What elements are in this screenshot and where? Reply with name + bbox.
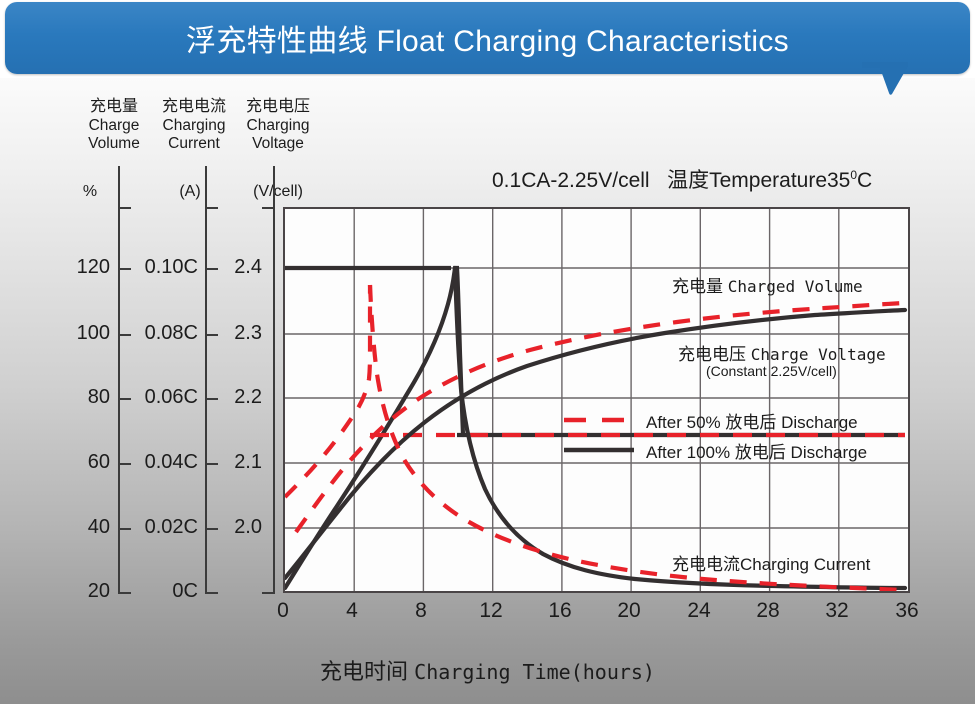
- tick-label-volume-60: 60: [40, 451, 110, 474]
- tick-label-current-004c: 0.04C: [118, 451, 198, 474]
- label-charged-volume: 充电量 Charged Volume: [672, 272, 863, 297]
- chart-legend: After 50% 放电后 Discharge After 100% 放电后 D…: [560, 405, 867, 465]
- axis-unit-volt-per-cell: (V/cell): [230, 183, 326, 201]
- label-charge-voltage: 充电电压 Charge Voltage: [678, 340, 886, 365]
- curve-voltage-100pct: [285, 268, 463, 588]
- legend-swatch-dashed-red: [560, 405, 638, 435]
- label-charge-voltage-note: (Constant 2.25V/cell): [706, 363, 837, 379]
- page-title: 浮充特性曲线 Float Charging Characteristics: [5, 2, 970, 74]
- condition-rate: 0.1CA-2.25V/cell: [492, 169, 650, 192]
- axis-header-charging-voltage: 充电电压 Charging Voltage: [234, 98, 322, 152]
- x-axis-caption: 充电时间 Charging Time(hours): [0, 654, 975, 686]
- tick-label-volume-80: 80: [40, 386, 110, 409]
- xtick-24: 24: [677, 599, 721, 623]
- tick-label-volume-100: 100: [40, 322, 110, 345]
- tick-label-volume-40: 40: [40, 516, 110, 539]
- xtick-20: 20: [607, 599, 651, 623]
- condition-annotation: 0.1CA-2.25V/cell 温度Temperature350C: [492, 164, 872, 194]
- axis-tick: [262, 592, 273, 594]
- tick-label-current-006c: 0.06C: [118, 386, 198, 409]
- tick-label-voltage-22: 2.2: [198, 386, 262, 409]
- tick-label-voltage-23: 2.3: [198, 322, 262, 345]
- title-banner: 浮充特性曲线 Float Charging Characteristics: [5, 2, 970, 74]
- tick-label-current-010c: 0.10C: [118, 256, 198, 279]
- curve-voltage-50pct-rise: [285, 285, 370, 497]
- xtick-4: 4: [330, 599, 374, 623]
- xtick-36: 36: [885, 599, 929, 623]
- tick-label-current-0c: 0C: [118, 580, 198, 603]
- tick-label-volume-20: 20: [40, 580, 110, 603]
- axis-header-charge-volume: 充电量 Charge Volume: [72, 98, 156, 152]
- chart-plot-area: [283, 207, 910, 593]
- condition-temp-cn: 温度: [667, 169, 709, 192]
- axis-tick: [207, 207, 218, 209]
- legend-label-50pct: After 50% 放电后 Discharge: [638, 408, 858, 433]
- axis-tick: [207, 592, 218, 594]
- xtick-12: 12: [469, 599, 513, 623]
- xtick-32: 32: [815, 599, 859, 623]
- label-charging-current: 充电电流Charging Current: [672, 550, 870, 575]
- tick-label-current-002c: 0.02C: [118, 516, 198, 539]
- axis-header-charging-current: 充电电流 Charging Current: [150, 98, 238, 152]
- chart-curves: [285, 209, 908, 591]
- axis-tick: [120, 207, 131, 209]
- xtick-0: 0: [261, 599, 305, 623]
- axis-unit-ampere: (A): [152, 183, 228, 201]
- legend-item-50pct: After 50% 放电后 Discharge: [560, 405, 867, 435]
- condition-temp-unit: C: [857, 169, 872, 192]
- axis-rule-charging-voltage: [273, 166, 275, 594]
- xtick-8: 8: [399, 599, 443, 623]
- legend-swatch-solid-black: [560, 435, 638, 465]
- tick-label-volume-120: 120: [40, 256, 110, 279]
- tick-label-voltage-21: 2.1: [198, 451, 262, 474]
- legend-label-100pct: After 100% 放电后 Discharge: [638, 438, 867, 463]
- axis-unit-percent: %: [72, 183, 108, 201]
- legend-item-100pct: After 100% 放电后 Discharge: [560, 435, 867, 465]
- axis-tick: [262, 207, 273, 209]
- tick-label-current-008c: 0.08C: [118, 322, 198, 345]
- xtick-16: 16: [538, 599, 582, 623]
- xtick-28: 28: [746, 599, 790, 623]
- condition-temp-en: Temperature35: [709, 169, 850, 192]
- tick-label-voltage-24: 2.4: [198, 256, 262, 279]
- tick-label-voltage-20: 2.0: [198, 516, 262, 539]
- speech-bubble-tail-icon: [862, 62, 922, 96]
